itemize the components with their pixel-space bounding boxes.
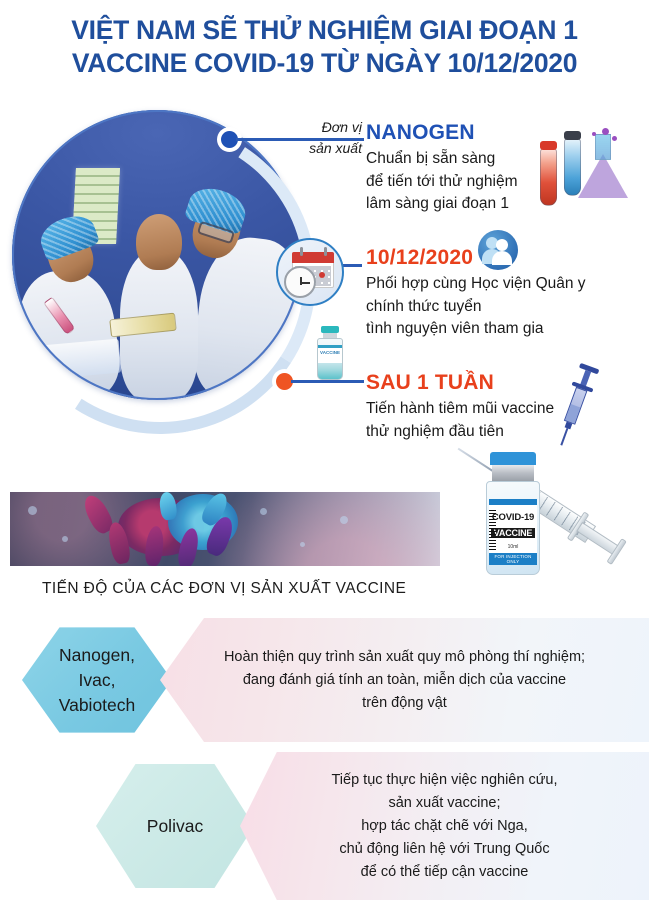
hex1-line-1: Nanogen, xyxy=(59,643,136,668)
page-title: VIỆT NAM SẼ THỬ NGHIỆM GIAI ĐOẠN 1 VACCI… xyxy=(0,14,649,80)
test-tube-red-icon xyxy=(540,148,557,206)
calendar-marked-day-icon xyxy=(319,272,325,278)
date-body-line-1: Phối hợp cùng Học viện Quân y xyxy=(366,273,646,296)
bubble-icon-1 xyxy=(602,128,609,135)
hex2-line-1: Polivac xyxy=(147,814,203,839)
unit-label-line-1: Đơn vị xyxy=(278,117,362,138)
vial-label-title: COVID-19 xyxy=(489,512,537,523)
small-vaccine-vial-icon: VACCINE xyxy=(313,326,347,382)
section-heading: TIẾN ĐỘ CỦA CÁC ĐƠN VỊ SẢN XUẤT VACCINE xyxy=(42,580,406,598)
progress-row-2: Polivac Tiếp tục thực hiện việc nghiên c… xyxy=(0,752,649,900)
vial-label: COVID-19 VACCINE 10ml FOR INJECTION ONLY xyxy=(489,505,537,557)
virus-particle-3 xyxy=(260,508,267,515)
vial-barcode xyxy=(489,510,496,552)
progress-panel-1: Hoàn thiện quy trình sản xuất quy mô phò… xyxy=(160,618,649,742)
clock-minute-hand-icon xyxy=(301,282,310,284)
hexagon-producers-2: Polivac xyxy=(96,760,254,892)
unit-label-line-2: sản xuất xyxy=(278,138,362,159)
progress-row-1: Nanogen, Ivac, Vabiotech Hoàn thiện quy … xyxy=(0,618,649,742)
calendar-header-icon xyxy=(292,252,334,263)
erlenmeyer-flask-icon xyxy=(578,154,628,198)
panel1-line-2: đang đánh giá tính an toàn, miễn dịch củ… xyxy=(224,669,585,692)
title-line-2: VACCINE COVID-19 TỪ NGÀY 10/12/2020 xyxy=(0,47,649,80)
vial-collar xyxy=(492,465,534,481)
panel-text-1: Hoàn thiện quy trình sản xuất quy mô phò… xyxy=(210,646,599,715)
small-vial-cap-icon xyxy=(321,326,339,333)
small-vial-label: VACCINE xyxy=(318,348,342,363)
title-line-1: VIỆT NAM SẼ THỬ NGHIỆM GIAI ĐOẠN 1 xyxy=(0,14,649,47)
hexagon-label-1: Nanogen, Ivac, Vabiotech xyxy=(53,643,142,718)
panel2-line-2: sản xuất vaccine; xyxy=(331,792,557,815)
calendar-ring-right-icon xyxy=(324,247,327,256)
panel1-line-1: Hoàn thiện quy trình sản xuất quy mô phò… xyxy=(224,646,585,669)
person-front-body-icon xyxy=(492,251,512,265)
test-tube-red-cap-icon xyxy=(540,141,557,150)
panel2-line-1: Tiếp tục thực hiện việc nghiên cứu, xyxy=(331,769,557,792)
virus-particle-2 xyxy=(62,536,68,542)
person-front-head-icon xyxy=(496,239,508,251)
flask-neck-icon xyxy=(595,134,611,160)
hexagon-label-2: Polivac xyxy=(141,814,209,839)
timeline-body-date: Phối hợp cùng Học viện Quân y chính thức… xyxy=(366,273,646,341)
virus-particle-4 xyxy=(300,542,305,547)
vial-label-notice: FOR INJECTION ONLY xyxy=(489,553,537,565)
test-tube-blue-cap-icon xyxy=(564,131,581,140)
syringe-group-icon xyxy=(554,363,601,442)
virus-image-band xyxy=(10,492,440,566)
infographic-page: VIỆT NAM SẼ THỬ NGHIỆM GIAI ĐOẠN 1 VACCI… xyxy=(0,0,649,900)
panel2-line-5: để có thể tiếp cận vaccine xyxy=(331,861,557,884)
vaccine-vial-illustration: COVID-19 VACCINE 10ml FOR INJECTION ONLY xyxy=(470,452,556,577)
bubble-icon-2 xyxy=(612,136,617,141)
panel2-line-4: chủ động liên hệ với Trung Quốc xyxy=(331,838,557,861)
panel1-line-3: trên động vật xyxy=(224,692,585,715)
vial-cap xyxy=(490,452,536,465)
panel2-line-3: hợp tác chặt chẽ với Nga, xyxy=(331,815,557,838)
syringe-icon xyxy=(552,360,612,446)
calendar-clock-icon xyxy=(276,238,344,306)
progress-panel-2: Tiếp tục thực hiện việc nghiên cứu, sản … xyxy=(240,752,649,900)
syringe-fluid-icon xyxy=(565,404,580,423)
bubble-icon-3 xyxy=(592,132,596,136)
vial-label-subtitle: VACCINE xyxy=(491,528,535,538)
virus-particle-5 xyxy=(340,516,348,524)
clock-icon xyxy=(284,266,316,298)
unit-label: Đơn vị sản xuất xyxy=(278,117,362,159)
people-icon xyxy=(478,230,518,270)
date-body-line-3: tình nguyện viên tham gia xyxy=(366,318,646,341)
hex1-line-3: Vabiotech xyxy=(59,693,136,718)
hexagon-producers-1: Nanogen, Ivac, Vabiotech xyxy=(22,624,172,736)
date-body-line-2: chính thức tuyển xyxy=(366,296,646,319)
calendar-ring-left-icon xyxy=(300,247,303,256)
lab-glassware-icon xyxy=(532,128,628,214)
panel-text-2: Tiếp tục thực hiện việc nghiên cứu, sản … xyxy=(317,769,571,884)
virus-particle-1 xyxy=(28,506,37,515)
hex1-line-2: Ivac, xyxy=(59,668,136,693)
syringe-needle-icon xyxy=(561,428,569,445)
